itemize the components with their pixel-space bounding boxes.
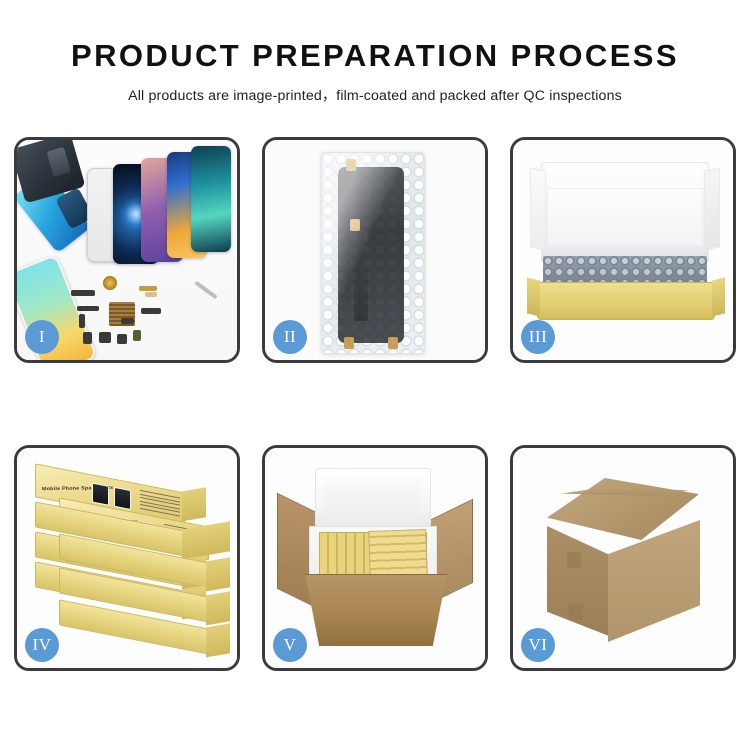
bubble-wrap-bag <box>321 152 425 354</box>
product-preparation-infographic: PRODUCT PREPARATION PROCESS All products… <box>0 0 750 750</box>
sensor-part <box>133 330 141 341</box>
step-badge-5: V <box>273 628 307 662</box>
phone-teal-display <box>191 146 231 252</box>
sim-tray-part <box>79 314 85 328</box>
speaker-part <box>99 332 111 343</box>
white-foam-sheet <box>547 188 703 246</box>
vibration-motor-part <box>103 276 117 290</box>
carton-tape-patch-upper <box>567 552 581 568</box>
header: PRODUCT PREPARATION PROCESS All products… <box>0 0 750 105</box>
loudspeaker-part <box>117 334 127 344</box>
step-badge-6: VI <box>521 628 555 662</box>
flex-cable-part <box>77 306 99 311</box>
process-step-5: V <box>262 445 488 671</box>
button-part <box>83 332 92 344</box>
flex-cable-gold-part <box>139 286 157 291</box>
carton-body <box>305 574 447 646</box>
step-badge-1: I <box>25 320 59 354</box>
page-title: PRODUCT PREPARATION PROCESS <box>0 40 750 73</box>
retail-box-stack: Mobile Phone Spare Parts Mobile Phone Sp… <box>25 472 235 658</box>
connector-part <box>121 318 134 324</box>
step-badge-4: IV <box>25 628 59 662</box>
page-subtitle: All products are image-printed，film-coat… <box>0 85 750 105</box>
step-badge-3: III <box>521 320 555 354</box>
yellow-box-base <box>537 282 715 320</box>
bag-highlight <box>322 153 424 353</box>
process-step-2: II <box>262 137 488 363</box>
process-step-4: Mobile Phone Spare Parts Mobile Phone Sp… <box>14 445 240 671</box>
process-step-grid: I II <box>14 137 736 671</box>
process-step-6: VI <box>510 445 736 671</box>
step-badge-2: II <box>273 320 307 354</box>
foam-box-lid <box>315 468 431 528</box>
process-step-3: III <box>510 137 736 363</box>
battery-connector-part <box>71 290 95 296</box>
process-step-1: I <box>14 137 240 363</box>
antenna-strip-part <box>145 292 157 297</box>
camera-flex-part <box>141 308 161 314</box>
carton-tape-patch-lower <box>569 604 583 620</box>
yellow-boxes-row-2 <box>368 529 428 577</box>
